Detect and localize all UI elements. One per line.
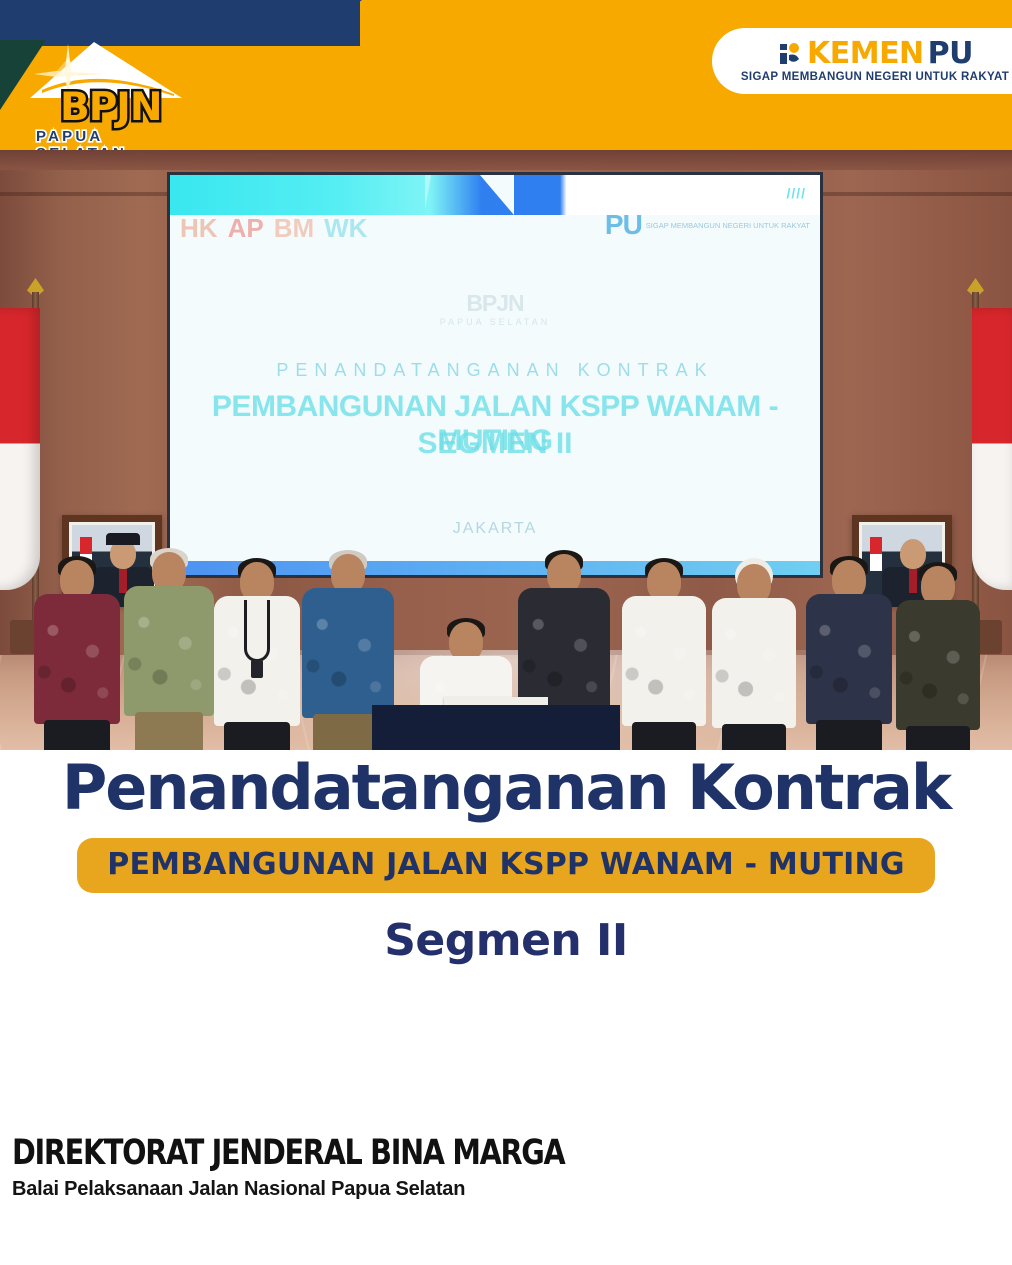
attendee-6 xyxy=(622,562,706,750)
attendee-3 xyxy=(214,562,300,750)
title-block: Penandatanganan Kontrak PEMBANGUNAN JALA… xyxy=(0,752,1012,966)
attendee-torso xyxy=(622,596,706,726)
attendee-legs xyxy=(722,724,786,750)
kemenpu-pu-text: PU xyxy=(928,39,973,69)
table-cloth xyxy=(372,715,620,750)
screen-location-text: JAKARTA xyxy=(170,520,820,538)
attendee-legs xyxy=(135,712,203,750)
attendee-torso xyxy=(896,600,980,730)
screen-pu-logo: PU SIGAP MEMBANGUN NEGERI UNTUK RAKYAT xyxy=(605,209,810,241)
attendee-lanyard xyxy=(244,600,270,662)
screen-bpjn-sub: PAPUA SELATAN xyxy=(170,317,820,327)
footer: DIREKTORAT JENDERAL BINA MARGA Balai Pel… xyxy=(12,1133,712,1201)
screen-bpjn-logo: BPJN PAPUA SELATAN xyxy=(170,290,820,327)
attendee-legs xyxy=(632,722,696,750)
attendee-legs xyxy=(816,720,881,750)
signing-table: PU KEMENTERIAN PEKERJAAN UMUM xyxy=(372,705,620,750)
attendee-8 xyxy=(806,560,892,750)
kemenpu-tagline: SIGAP MEMBANGUN NEGERI UNTUK RAKYAT xyxy=(741,71,1009,83)
bpjn-logo: BPJN PAPUA SELATAN xyxy=(24,40,194,144)
attendee-9 xyxy=(896,566,980,750)
attendee-1 xyxy=(34,560,120,750)
footer-organization: DIREKTORAT JENDERAL BINA MARGA xyxy=(12,1133,586,1173)
screen-tick-marks-icon: //// xyxy=(786,185,806,201)
pu-mark-icon xyxy=(777,41,803,67)
wall-top-band xyxy=(0,150,1012,170)
attendee-legs xyxy=(224,722,289,750)
attendee-torso xyxy=(712,598,796,728)
segment-subtitle: Segmen II xyxy=(0,915,1012,966)
page-title: Penandatanganan Kontrak xyxy=(0,752,1012,824)
screen-top-cut xyxy=(480,175,514,215)
screen-partner-logos: HK AP BM WK xyxy=(180,213,367,244)
attendee-legs xyxy=(44,720,109,750)
footer-unit: Balai Pelaksanaan Jalan Nasional Papua S… xyxy=(12,1178,712,1201)
attendee-torso xyxy=(806,594,892,724)
screen-bpjn-word: BPJN xyxy=(170,290,820,317)
attendee-2 xyxy=(124,552,214,750)
page-header: BPJN PAPUA SELATAN KEMEN PU SIGAP MEMBAN… xyxy=(0,0,1012,150)
attendee-torso xyxy=(302,588,394,718)
screen-eyebrow-text: PENANDATANGANAN KONTRAK xyxy=(170,360,820,381)
project-name-label: PEMBANGUNAN JALAN KSPP WANAM - MUTING xyxy=(107,847,904,882)
event-photograph: //// HK AP BM WK PU SIGAP MEMBANGUN NEGE… xyxy=(0,150,1012,750)
attendee-torso xyxy=(124,586,214,716)
screen-pu-word: PU xyxy=(605,209,642,241)
bpjn-subtitle: PAPUA SELATAN xyxy=(36,128,194,150)
kemenpu-kemen-text: KEMEN xyxy=(807,39,924,69)
bpjn-wordmark: BPJN xyxy=(60,88,161,128)
attendee-torso xyxy=(34,594,120,724)
attendee-legs xyxy=(906,726,970,750)
projector-screen: //// HK AP BM WK PU SIGAP MEMBANGUN NEGE… xyxy=(170,175,820,575)
kemenpu-logo: KEMEN PU SIGAP MEMBANGUN NEGERI UNTUK RA… xyxy=(712,28,1012,94)
attendee-7 xyxy=(712,564,796,750)
screen-pu-tagline: SIGAP MEMBANGUN NEGERI UNTUK RAKYAT xyxy=(646,221,810,230)
project-name-badge: PEMBANGUNAN JALAN KSPP WANAM - MUTING xyxy=(77,838,934,893)
screen-title-line2: SEGMEN II xyxy=(170,427,820,461)
